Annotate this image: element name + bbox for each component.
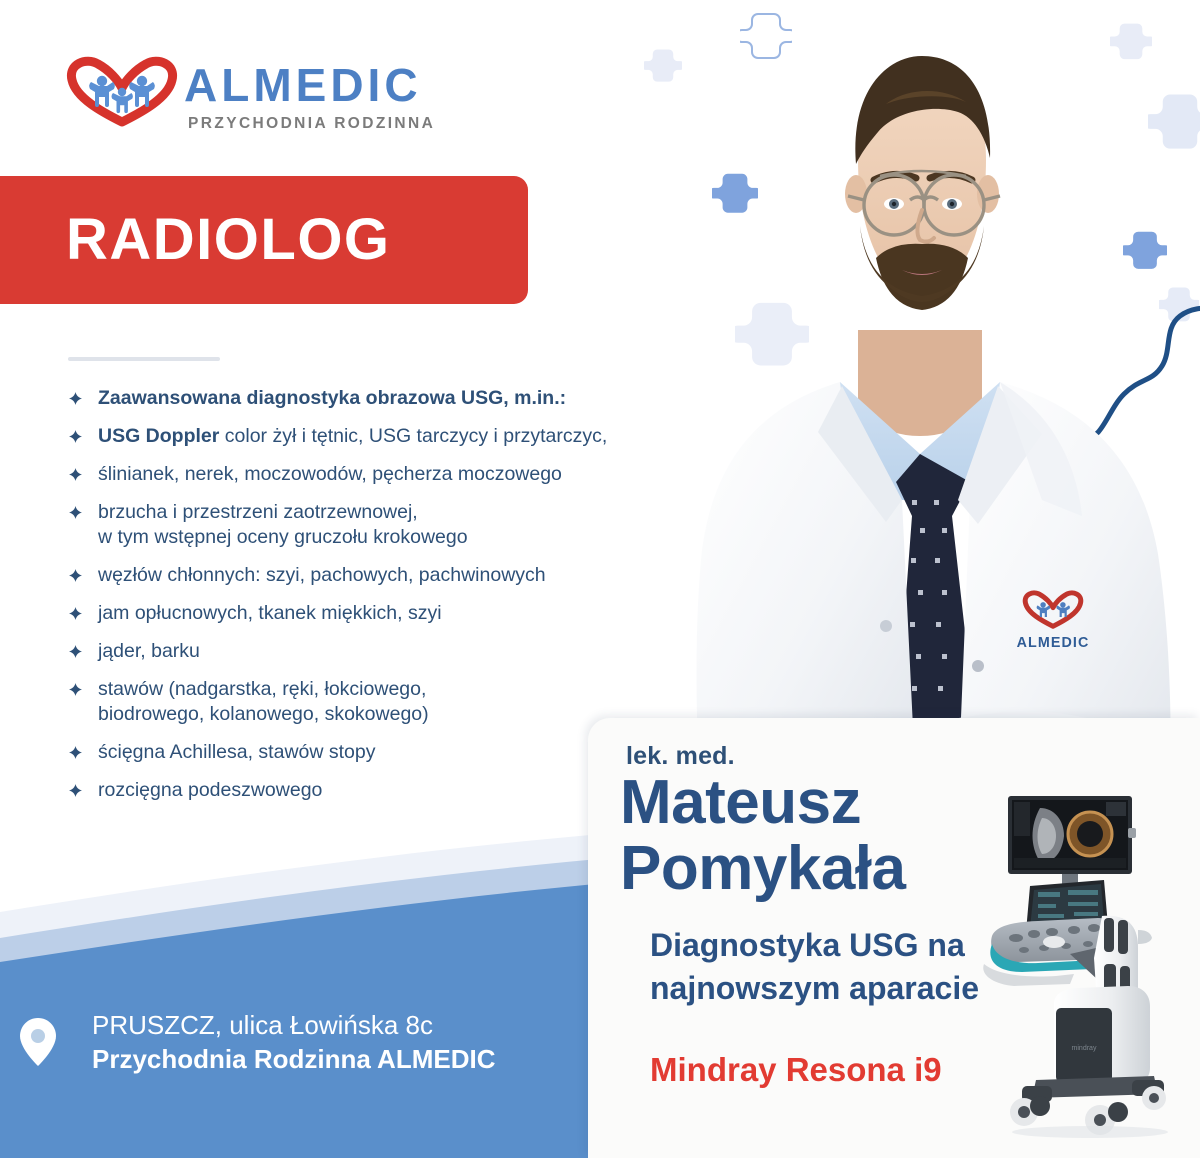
list-item-label: węzłów chłonnych: szyi, pachowych, pachw… (98, 564, 546, 586)
list-item: USG Doppler color żył i tętnic, USG tarc… (64, 424, 724, 449)
svg-text:ALMEDIC: ALMEDIC (1017, 635, 1090, 651)
diamond-bullet-icon (69, 683, 82, 696)
list-item-label: Zaawansowana diagnostyka obrazowa USG, m… (98, 387, 566, 409)
list-item-label-bold: USG Doppler (98, 425, 219, 447)
list-item-label-line2: w tym wstępnej oceny gruczołu krokowego (98, 526, 468, 548)
diamond-bullet-icon (69, 506, 82, 519)
list-item-label: ślinianek, nerek, moczowodów, pęcherza m… (98, 463, 562, 485)
doctor-title-prefix: lek. med. (626, 744, 735, 769)
address-line-2: Przychodnia Rodzinna ALMEDIC (92, 1042, 496, 1076)
list-item-label-line2: biodrowego, kolanowego, skokowego) (98, 703, 429, 725)
list-item-label: jam opłucnowych, tkanek miękkich, szyi (98, 602, 442, 624)
list-item-label: ścięgna Achillesa, stawów stopy (98, 741, 375, 763)
list-item: węzłów chłonnych: szyi, pachowych, pachw… (64, 563, 724, 588)
list-item-label: color żył i tętnic, USG tarczycy i przyt… (219, 425, 607, 447)
brand-logo: ALMEDIC PRZYCHODNIA RODZINNA (62, 56, 442, 136)
rounded-cross-icon (644, 48, 682, 86)
diamond-bullet-icon (69, 607, 82, 620)
map-pin-icon (18, 1016, 58, 1068)
doctor-last-name: Pomykała (620, 836, 906, 902)
heart-family-icon (62, 56, 182, 128)
diamond-bullet-icon (69, 468, 82, 481)
brand-tagline: PRZYCHODNIA RODZINNA (188, 116, 435, 132)
address-line-1: PRUSZCZ, ulica Łowińska 8c (92, 1008, 433, 1042)
diamond-bullet-icon (69, 430, 82, 443)
list-item: jąder, barku (64, 639, 724, 664)
diamond-bullet-icon (69, 569, 82, 582)
list-item-label: rozcięgna podeszwowego (98, 779, 322, 801)
poster-root: ALMEDIC PRZYCHODNIA RODZINNA RADIOLOG Za… (0, 0, 1200, 1158)
diamond-bullet-icon (69, 746, 82, 759)
list-item-label: jąder, barku (98, 640, 200, 662)
radiolog-banner: RADIOLOG (0, 176, 528, 304)
address-block: PRUSZCZ, ulica Łowińska 8c Przychodnia R… (0, 1000, 580, 1090)
list-item: ślinianek, nerek, moczowodów, pęcherza m… (64, 462, 724, 487)
list-item: brzucha i przestrzeni zaotrzewnowej, w t… (64, 500, 724, 550)
list-item-label: stawów (nadgarstka, ręki, łokciowego, (98, 678, 426, 700)
list-item: jam opłucnowych, tkanek miękkich, szyi (64, 601, 724, 626)
brand-name: ALMEDIC (184, 62, 422, 108)
svg-text:mindray: mindray (1072, 1045, 1097, 1052)
list-item: Zaawansowana diagnostyka obrazowa USG, m… (64, 386, 724, 411)
diamond-bullet-icon (69, 645, 82, 658)
section-divider (68, 357, 220, 361)
device-name: Mindray Resona i9 (650, 1053, 942, 1086)
diamond-bullet-icon (69, 392, 82, 405)
list-item-label: brzucha i przestrzeni zaotrzewnowej, (98, 501, 418, 523)
diamond-bullet-icon (69, 784, 82, 797)
doctor-first-name: Mateusz (620, 770, 861, 836)
doctor-info-card: lek. med. Mateusz Pomykała Diagnostyka U… (588, 718, 1200, 1158)
doctor-service-description: Diagnostyka USG na najnowszym aparacie (650, 924, 980, 1010)
doctor-portrait: ALMEDIC (690, 30, 1190, 790)
ultrasound-machine-icon: mindray (978, 768, 1198, 1138)
banner-title: RADIOLOG (66, 211, 391, 269)
